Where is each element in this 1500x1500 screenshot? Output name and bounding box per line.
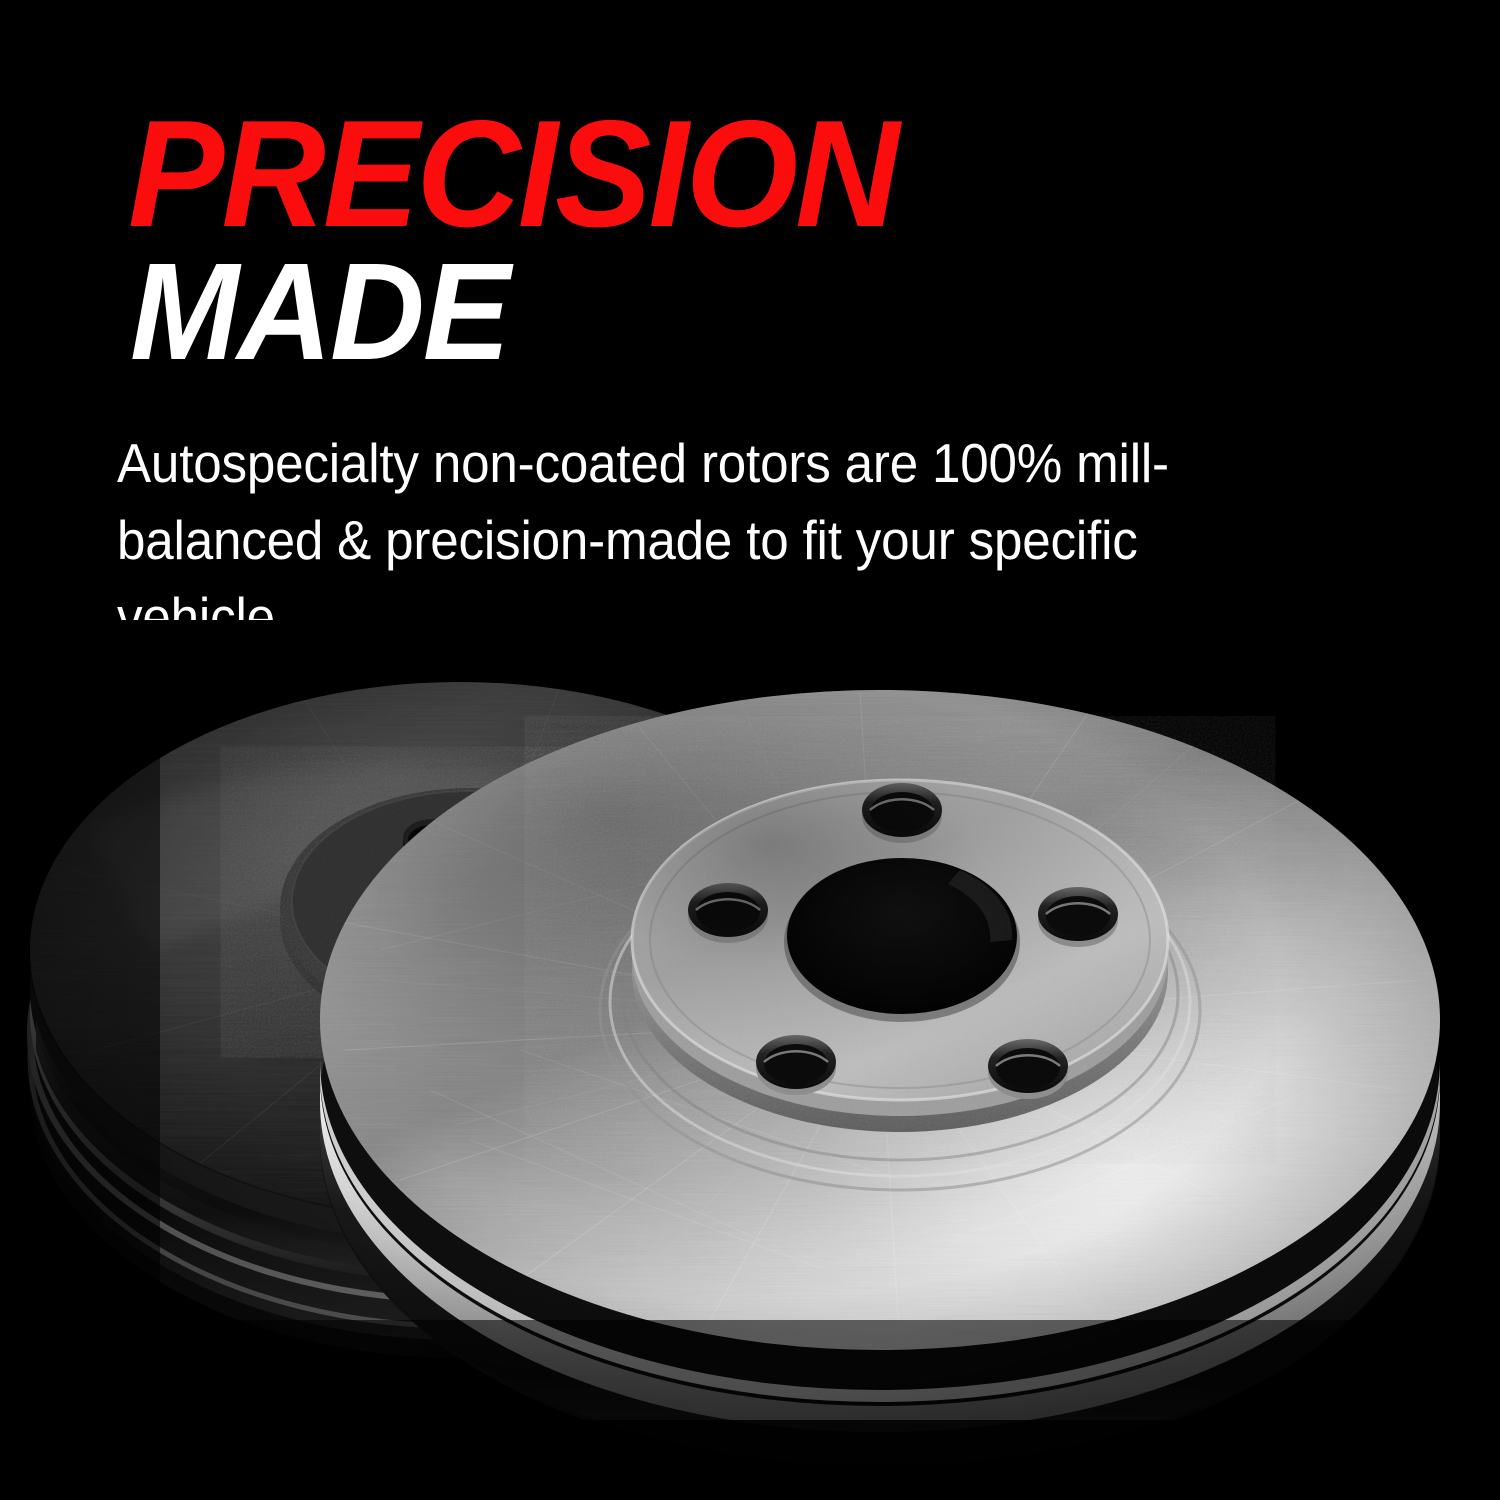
headline-made: MADE <box>130 243 508 381</box>
headline-precision: PRECISION <box>128 98 897 250</box>
product-banner: PRECISION MADE Autospecialty non-coated … <box>0 0 1500 1500</box>
headline-block: PRECISION MADE Autospecialty non-coated … <box>0 0 1500 660</box>
brake-rotor-photo <box>0 620 1500 1500</box>
